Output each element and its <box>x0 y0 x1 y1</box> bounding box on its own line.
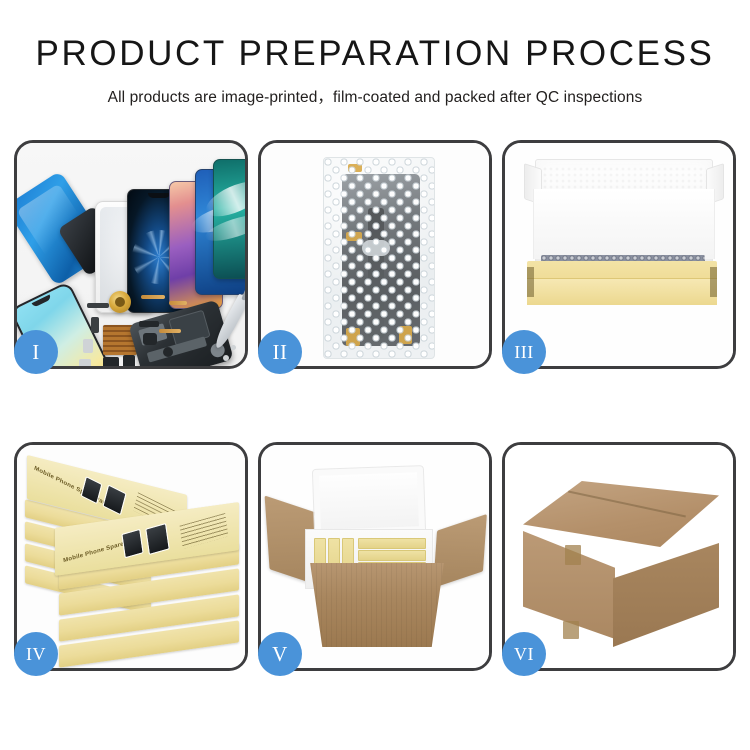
small-part <box>87 303 109 308</box>
phone-display-teal <box>213 159 245 279</box>
flex-cable <box>141 295 165 299</box>
bubble-wrap-illustration <box>261 143 489 366</box>
step-badge-4: IV <box>14 632 58 676</box>
bubble-texture-overlay <box>324 158 434 358</box>
box-print-phone <box>121 529 143 559</box>
process-step-5: V <box>258 442 492 671</box>
step-2-image <box>261 143 489 366</box>
tray-corner-right <box>710 267 717 297</box>
step-badge-5: V <box>258 632 302 676</box>
carton-top-face <box>523 481 719 547</box>
flex-cable <box>169 301 187 305</box>
page-header: PRODUCT PREPARATION PROCESS All products… <box>0 0 750 107</box>
carton-tab <box>563 621 579 639</box>
step-4-image: Mobile Phone Spare Parts Mobile Phone Sp… <box>17 445 245 668</box>
yellow-box-tray <box>527 261 717 305</box>
small-part <box>79 359 91 366</box>
carton-tab <box>565 545 581 565</box>
page-subtitle: All products are image-printed，film-coat… <box>0 85 750 107</box>
process-step-4: Mobile Phone Spare Parts Mobile Phone Sp… <box>14 442 248 671</box>
step-badge-1: I <box>14 330 58 374</box>
flex-cable <box>159 329 181 333</box>
small-part <box>103 357 119 366</box>
step-badge-2: II <box>258 330 302 374</box>
phone-notch <box>32 294 52 307</box>
carton-body <box>301 563 453 647</box>
bubble-bag <box>323 157 435 359</box>
product-parts-illustration <box>17 143 245 366</box>
box-print-phone <box>145 523 170 555</box>
speaker-module <box>109 291 131 313</box>
small-part <box>83 339 93 353</box>
step-3-image <box>505 143 733 366</box>
sealed-carton-illustration <box>505 445 733 668</box>
box-stack: Mobile Phone Spare Parts Mobile Phone Sp… <box>25 463 243 659</box>
step-5-image <box>261 445 489 668</box>
tray-front <box>527 278 717 305</box>
step-6-image <box>505 445 733 668</box>
inner-box-illustration <box>505 143 733 366</box>
process-step-3: III <box>502 140 736 369</box>
carton-right-face <box>613 543 719 647</box>
step-badge-6: VI <box>502 632 546 676</box>
small-part <box>123 355 135 366</box>
step-badge-3: III <box>502 330 546 374</box>
small-part <box>163 347 173 357</box>
process-step-6: VI <box>502 442 736 671</box>
carton-loading-illustration <box>261 445 489 668</box>
process-step-grid: I <box>14 140 736 671</box>
yellow-box-item <box>358 550 426 561</box>
screw <box>231 345 236 350</box>
small-part <box>91 317 99 333</box>
small-part <box>143 333 157 345</box>
tray-corner-left <box>527 267 534 297</box>
box-liner <box>533 189 715 259</box>
phone-notch <box>148 193 170 198</box>
bag-body <box>323 157 435 359</box>
yellow-box-item <box>358 538 426 549</box>
process-step-1: I <box>14 140 248 369</box>
foam-lid <box>312 465 426 537</box>
process-step-2: II <box>258 140 492 369</box>
step-1-image <box>17 143 245 366</box>
screw <box>223 355 229 361</box>
carton-texture <box>301 563 453 647</box>
stacked-boxes-illustration: Mobile Phone Spare Parts Mobile Phone Sp… <box>17 445 245 668</box>
page-title: PRODUCT PREPARATION PROCESS <box>0 36 750 71</box>
small-part <box>139 321 159 327</box>
